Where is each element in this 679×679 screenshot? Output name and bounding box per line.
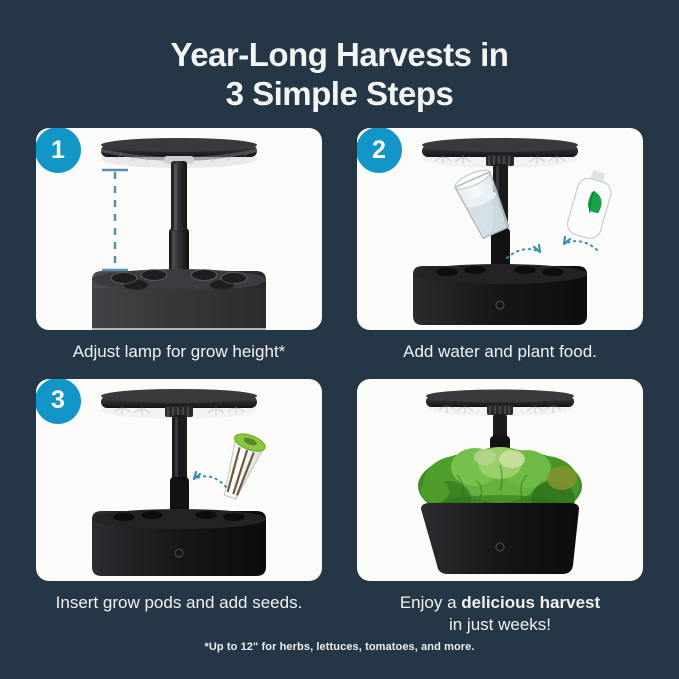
plant-food-bottle — [565, 167, 616, 241]
step-image-2: 2 — [357, 128, 643, 330]
step-badge-1: 1 — [36, 128, 81, 173]
insert-arrow — [194, 472, 226, 487]
step-caption-2: Add water and plant food. — [357, 341, 643, 363]
footnote: *Up to 12" for herbs, lettuces, tomatoes… — [0, 641, 679, 653]
garden-base-2 — [413, 264, 587, 325]
lamp-head-2 — [422, 138, 578, 168]
lamp-head-3 — [101, 389, 257, 419]
step-card-2: 2 — [357, 128, 643, 363]
title-line-2: 3 Simple Steps — [0, 75, 679, 114]
height-measure-arrow — [102, 170, 128, 270]
garden-base-1 — [92, 269, 266, 330]
caption-part-2: in just weeks! — [449, 615, 551, 634]
steps-grid: 1 — [36, 128, 643, 635]
lamp-pole-1 — [169, 161, 189, 288]
step-caption-4: Enjoy a delicious harvest in just weeks! — [357, 592, 643, 636]
grow-pod — [215, 430, 267, 502]
step-image-4 — [357, 379, 643, 581]
title-line-1: Year-Long Harvests in — [0, 36, 679, 75]
garden-base-4 — [421, 503, 579, 574]
step-badge-2: 2 — [357, 128, 402, 173]
lamp-head-4 — [426, 389, 574, 416]
step-caption-3: Insert grow pods and add seeds. — [36, 592, 322, 614]
pour-arrows — [507, 237, 597, 258]
harvest-illustration — [357, 379, 643, 581]
caption-bold: delicious harvest — [461, 593, 600, 612]
step-card-3: 3 — [36, 379, 322, 636]
page-title: Year-Long Harvests in 3 Simple Steps — [0, 0, 679, 114]
step-image-1: 1 — [36, 128, 322, 330]
step-card-4: Enjoy a delicious harvest in just weeks! — [357, 379, 643, 636]
garden-base-3 — [92, 509, 266, 576]
caption-part-1: Enjoy a — [400, 593, 461, 612]
step-card-1: 1 — [36, 128, 322, 363]
step-caption-1: Adjust lamp for grow height* — [36, 341, 322, 363]
step-image-3: 3 — [36, 379, 322, 581]
step-badge-3: 3 — [36, 379, 81, 424]
